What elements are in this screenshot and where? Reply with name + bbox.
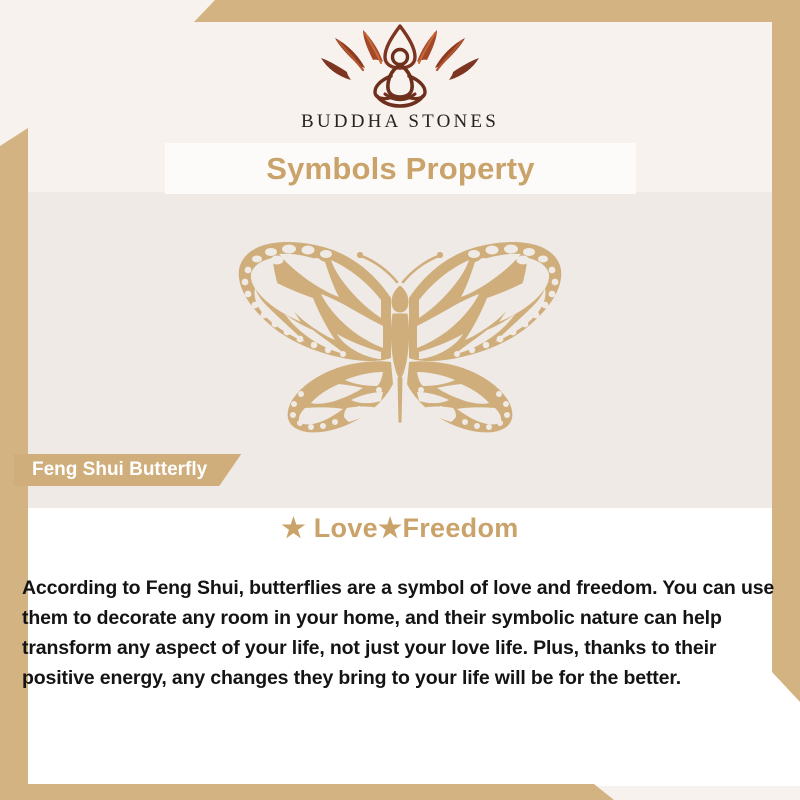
gold-border-bottom [0,784,800,800]
feng-shui-butterfly-tab: Feng Shui Butterfly [14,454,241,486]
subheading-text: ★ Love★Freedom [281,513,518,543]
brand-name: BUDDHA STONES [301,111,499,133]
page-title: Symbols Property [266,151,535,187]
subheading: ★ Love★Freedom [0,513,800,544]
brand-logo: BUDDHA STONES [0,24,800,139]
promo-card: BUDDHA STONES Symbols Property [0,0,800,800]
title-banner: Symbols Property [165,143,636,194]
butterfly-icon [215,226,585,441]
butterfly-illustration [0,226,800,441]
tab-label: Feng Shui Butterfly [32,459,207,481]
description-paragraph: According to Feng Shui, butterflies are … [22,573,780,693]
lotus-meditation-figure-icon [305,24,495,109]
